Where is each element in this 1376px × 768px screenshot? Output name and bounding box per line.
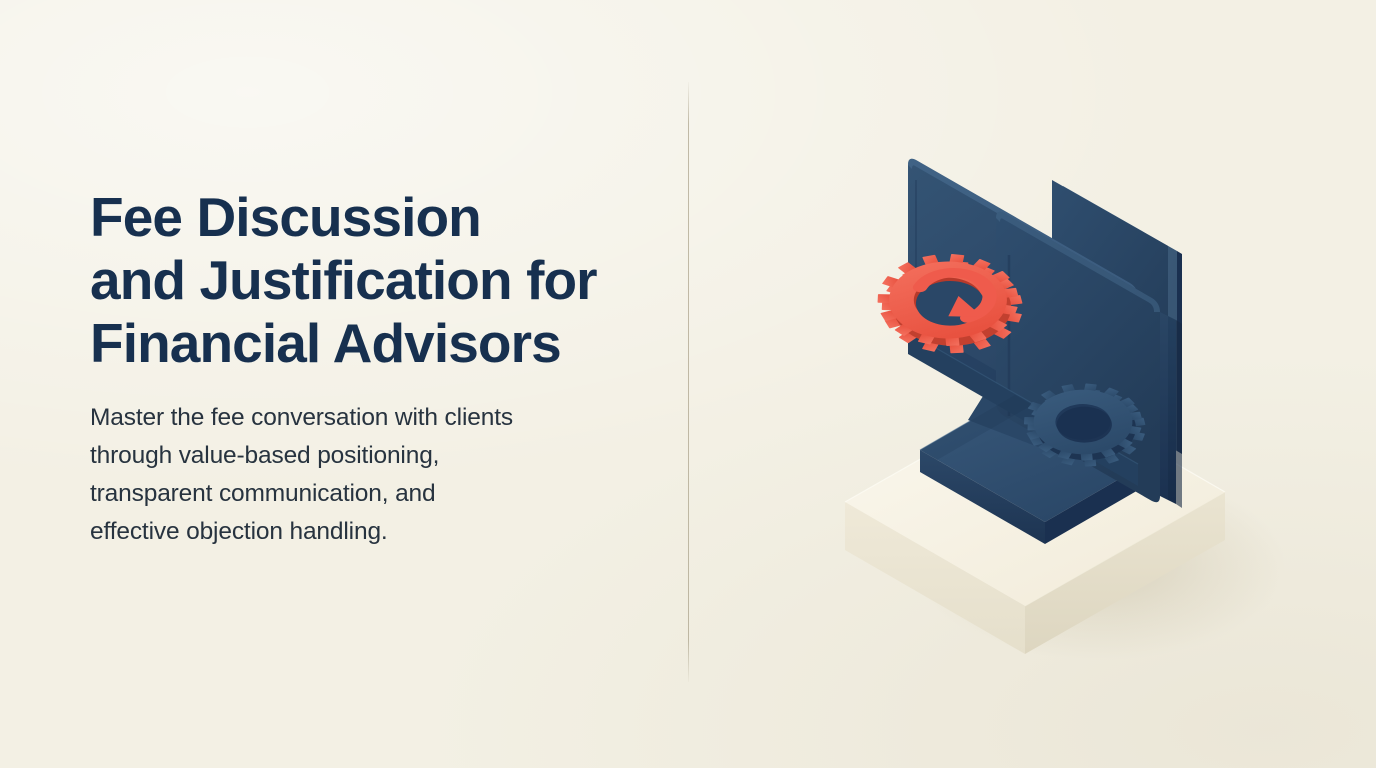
text-column: Fee Discussion and Justification for Fin… [90,186,650,551]
page-title: Fee Discussion and Justification for Fin… [90,186,650,375]
screen-depth-walls [1160,312,1182,508]
vertical-divider [688,82,689,682]
page-subtitle: Master the fee conversation with clients… [90,399,650,551]
illustration-isometric-monitor [800,120,1300,680]
slide-root: Fee Discussion and Justification for Fin… [0,0,1376,768]
